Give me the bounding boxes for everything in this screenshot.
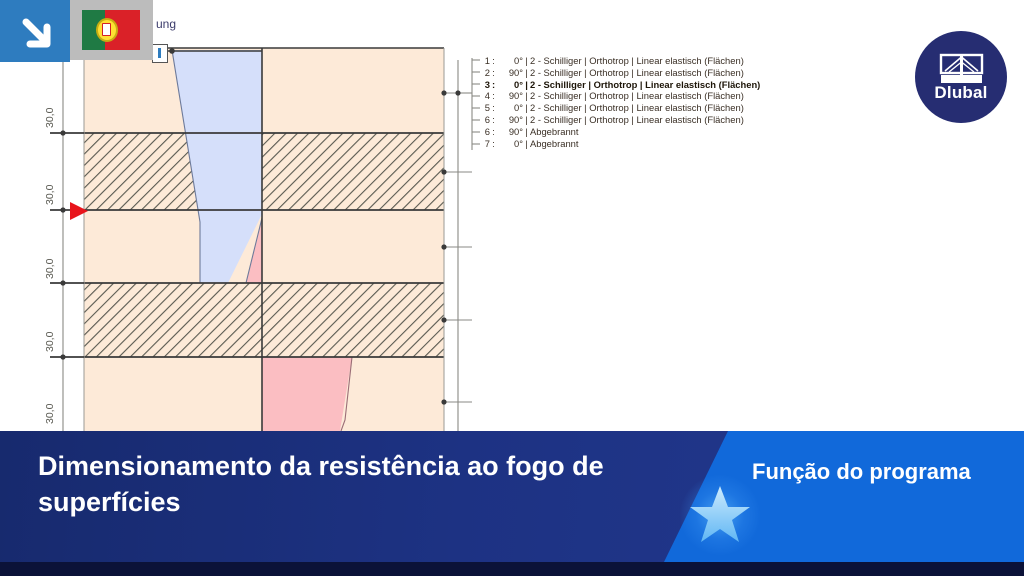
legend-angle: 0°	[497, 102, 523, 114]
legend-row: 2:90°|2 - Schilliger | Orthotrop | Linea…	[478, 67, 760, 79]
download-arrow-badge[interactable]	[0, 0, 70, 62]
flag-shield-icon	[102, 23, 111, 36]
legend-number: 1	[478, 55, 490, 67]
banner-subtitle: Função do programa	[752, 457, 1002, 486]
legend-number: 6	[478, 114, 490, 126]
logo-wordmark: Dlubal	[915, 83, 1007, 103]
legend-row: 7:0°|Abgebrannt	[478, 138, 760, 150]
legend-text: 2 - Schilliger | Orthotrop | Linear elas…	[530, 79, 760, 90]
star-badge	[680, 475, 760, 555]
legend-number: 5	[478, 102, 490, 114]
truss-bridge-icon	[915, 31, 1007, 123]
legend-number: 3	[478, 79, 490, 91]
dimension-label: 30,0	[44, 332, 56, 352]
legend-row-selected: 3:0°|2 - Schilliger | Orthotrop | Linear…	[478, 79, 760, 91]
leader-lines	[444, 60, 472, 431]
legend-number: 7	[478, 138, 490, 150]
cad-drawing-area: 30,0 30,0 30,0 30,0 30,0 ung 1:0°|2 - Sc…	[0, 0, 1024, 431]
legend-text: Abgebrannt	[530, 138, 578, 149]
legend-angle: 90°	[497, 126, 523, 138]
truncated-label: ung	[156, 17, 176, 31]
node-marker-icon	[158, 48, 161, 58]
legend-anchor-dot	[455, 90, 460, 95]
legend-text: 2 - Schilliger | Orthotrop | Linear elas…	[530, 67, 744, 78]
dimension-label: 30,0	[44, 259, 56, 279]
title-banner: Dimensionamento da resistência ao fogo d…	[0, 431, 1024, 576]
legend-row: 1:0°|2 - Schilliger | Orthotrop | Linear…	[478, 55, 760, 67]
legend-row: 6:90°|2 - Schilliger | Orthotrop | Linea…	[478, 114, 760, 126]
legend-row: 5:0°|2 - Schilliger | Orthotrop | Linear…	[478, 102, 760, 114]
legend-text: Abgebrannt	[530, 126, 578, 137]
material-legend: 1:0°|2 - Schilliger | Orthotrop | Linear…	[478, 55, 760, 149]
cad-node-label-box[interactable]	[152, 44, 168, 63]
slide: 30,0 30,0 30,0 30,0 30,0 ung 1:0°|2 - Sc…	[0, 0, 1024, 576]
legend-row: 4:90°|2 - Schilliger | Orthotrop | Linea…	[478, 90, 760, 102]
legend-text: 2 - Schilliger | Orthotrop | Linear elas…	[530, 90, 744, 101]
legend-text: 2 - Schilliger | Orthotrop | Linear elas…	[530, 102, 744, 113]
legend-bracket	[458, 58, 480, 150]
legend-text: 2 - Schilliger | Orthotrop | Linear elas…	[530, 55, 744, 66]
callout-dot	[169, 48, 175, 54]
banner-footer-strip	[0, 562, 1024, 576]
legend-angle: 90°	[497, 67, 523, 79]
portugal-flag-icon	[82, 10, 140, 50]
legend-angle: 0°	[497, 55, 523, 67]
hatched-layer-4	[84, 283, 444, 357]
dimension-label: 30,0	[44, 404, 56, 424]
legend-text: 2 - Schilliger | Orthotrop | Linear elas…	[530, 114, 744, 125]
legend-number: 4	[478, 90, 490, 102]
star-icon	[688, 483, 752, 547]
flag-panel[interactable]	[70, 0, 153, 60]
legend-angle: 0°	[497, 79, 523, 91]
banner-title: Dimensionamento da resistência ao fogo d…	[38, 448, 658, 520]
dimension-label: 30,0	[44, 108, 56, 128]
dlubal-logo[interactable]: Dlubal	[915, 31, 1007, 123]
dimension-ticks	[50, 133, 84, 357]
arrow-down-right-icon	[0, 0, 70, 62]
legend-number: 2	[478, 67, 490, 79]
legend-angle: 90°	[497, 114, 523, 126]
legend-angle: 90°	[497, 90, 523, 102]
legend-row: 6:90°|Abgebrannt	[478, 126, 760, 138]
legend-number: 6	[478, 126, 490, 138]
dimension-label: 30,0	[44, 185, 56, 205]
hatched-layer-2	[84, 133, 444, 210]
legend-angle: 0°	[497, 138, 523, 150]
